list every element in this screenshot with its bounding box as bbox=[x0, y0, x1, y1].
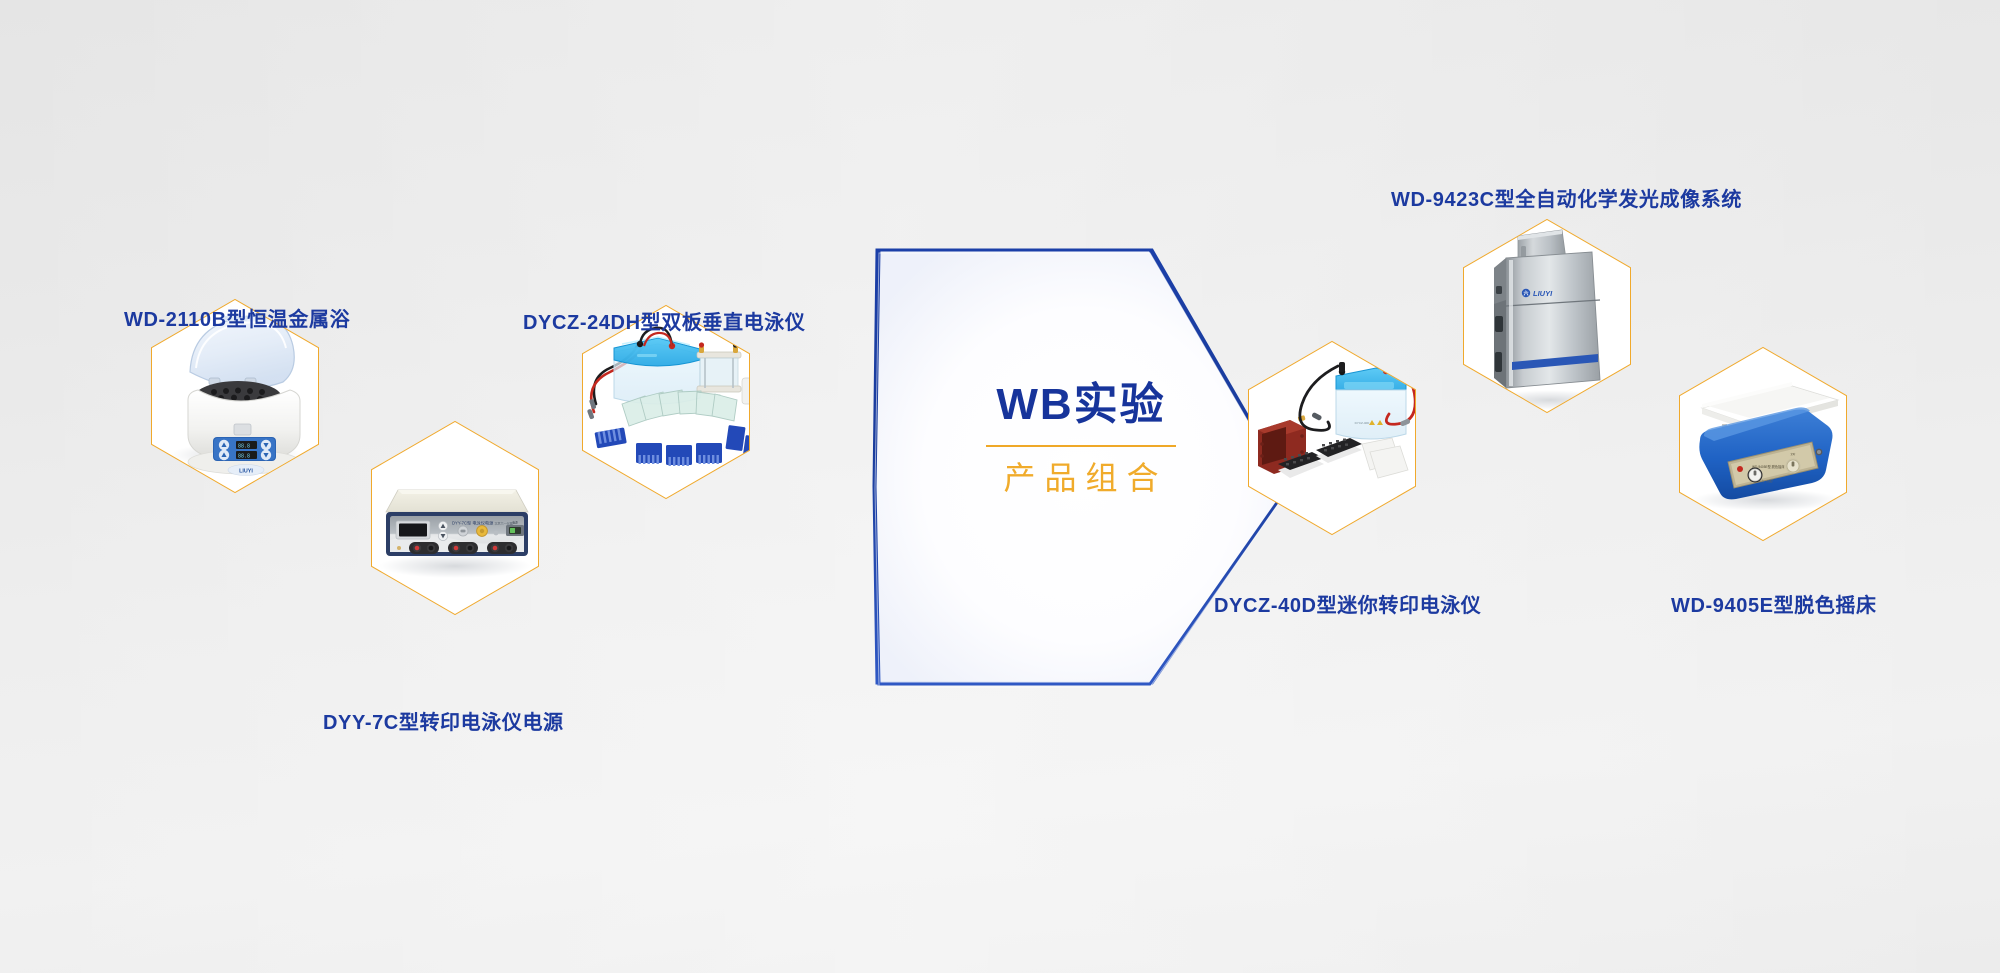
hexagon-vertical-electrophoresis[interactable] bbox=[583, 306, 796, 500]
center-subtitle: 产品组合 bbox=[911, 459, 1251, 497]
svg-text:88.8: 88.8 bbox=[238, 454, 250, 460]
svg-text:88.8: 88.8 bbox=[238, 444, 250, 450]
svg-text:LIUYI: LIUYI bbox=[239, 468, 253, 474]
label-power-supply: DYY-7C型转印电泳仪电源 bbox=[323, 713, 564, 733]
label-chemiluminescence-imager: WD-9423C型全自动化学发光成像系统 bbox=[1391, 190, 1742, 210]
svg-text:六: 六 bbox=[1523, 290, 1528, 297]
hexagon-decolorizing-shaker[interactable]: WD-9405E型 脱色摇床 北京六一仪器厂 定时 bbox=[1680, 348, 1848, 542]
hexagon-power-supply[interactable]: DYY-7C型 电泳仪电源 北京六一仪器厂 bbox=[372, 422, 544, 616]
center-title: WB实验 bbox=[911, 380, 1251, 431]
infographic-canvas: 88.8 88.8 LIUYI bbox=[0, 0, 2000, 973]
label-dry-bath: WD-2110B型恒温金属浴 bbox=[124, 310, 350, 330]
svg-text:DYY-7C型 电泳仪电源: DYY-7C型 电泳仪电源 bbox=[452, 520, 494, 527]
hexagon-chemiluminescence-imager[interactable]: 六 LIUYI bbox=[1464, 220, 1632, 414]
svg-text:DYCZ-40D: DYCZ-40D bbox=[1355, 421, 1371, 425]
label-mini-transfer-cell: DYCZ-40D型迷你转印电泳仪 bbox=[1214, 596, 1481, 616]
svg-text:定时: 定时 bbox=[1791, 452, 1796, 456]
product-image-decolorizing-shaker: WD-9405E型 脱色摇床 北京六一仪器厂 定时 bbox=[1680, 348, 1848, 542]
svg-text:LIUYI: LIUYI bbox=[1533, 289, 1553, 298]
center-title-block: WB实验 产品组合 bbox=[911, 380, 1251, 497]
svg-text:电源: 电源 bbox=[512, 520, 518, 524]
product-image-power-supply: DYY-7C型 电泳仪电源 北京六一仪器厂 bbox=[372, 422, 544, 616]
label-vertical-electrophoresis: DYCZ-24DH型双板垂直电泳仪 bbox=[523, 313, 805, 333]
center-divider bbox=[986, 445, 1176, 447]
label-decolorizing-shaker: WD-9405E型脱色摇床 bbox=[1671, 596, 1877, 616]
product-image-chemiluminescence-imager: 六 LIUYI bbox=[1464, 220, 1632, 414]
